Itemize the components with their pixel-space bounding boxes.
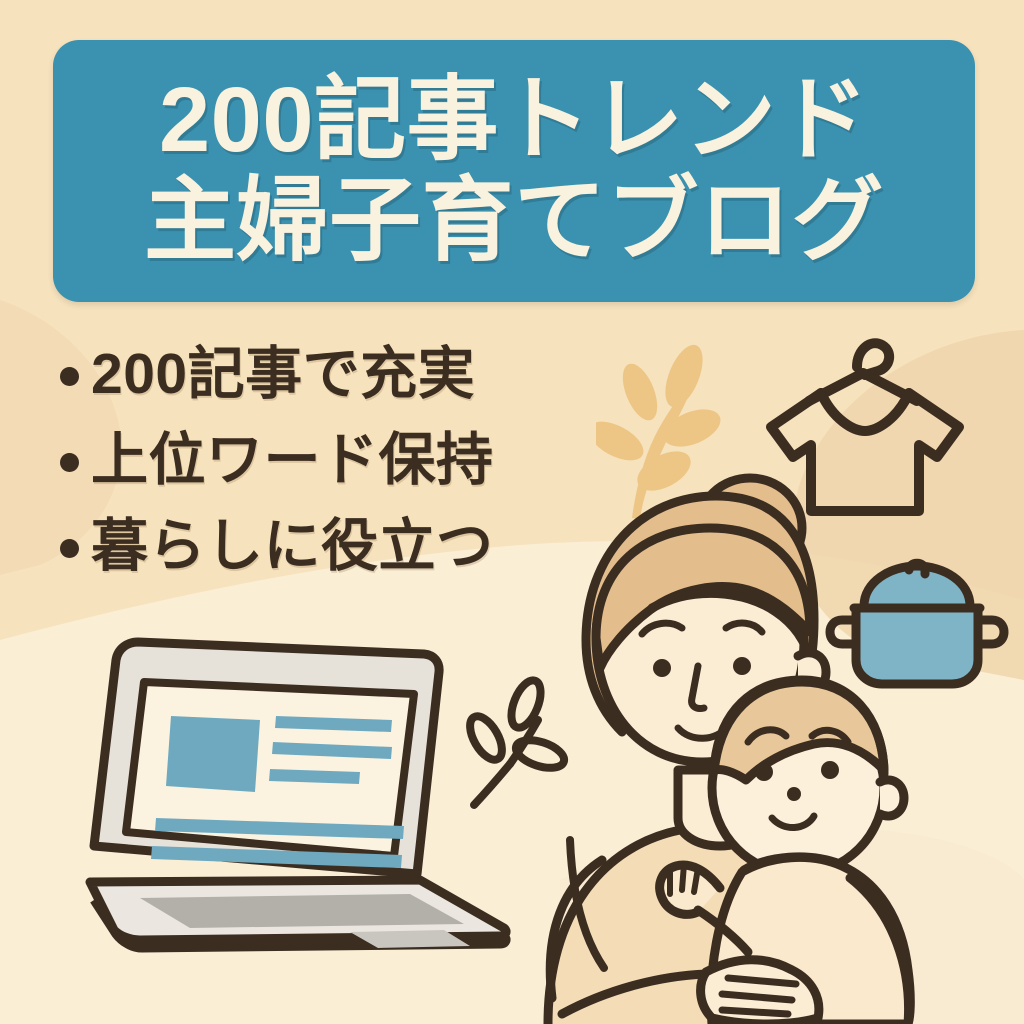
bullet-label: 暮らしに役立つ	[91, 517, 494, 577]
bullet-label: 200記事で充実	[91, 345, 475, 405]
list-item: 暮らしに役立つ	[60, 517, 620, 577]
bullet-dot-icon	[60, 367, 79, 386]
bullet-dot-icon	[60, 539, 79, 558]
poster-canvas: 200記事トレンド 主婦子育てブログ 200記事で充実 上位ワード保持 暮らしに…	[0, 0, 1024, 1024]
feature-bullet-list: 200記事で充実 上位ワード保持 暮らしに役立つ	[60, 345, 620, 577]
bullet-dot-icon	[60, 453, 79, 472]
title-banner: 200記事トレンド 主婦子育てブログ	[53, 40, 975, 302]
bullet-label: 上位ワード保持	[91, 431, 494, 491]
list-item: 200記事で充実	[60, 345, 620, 405]
title-line-2: 主婦子育てブログ	[144, 172, 884, 271]
list-item: 上位ワード保持	[60, 431, 620, 491]
title-line-1: 200記事トレンド	[159, 71, 869, 170]
